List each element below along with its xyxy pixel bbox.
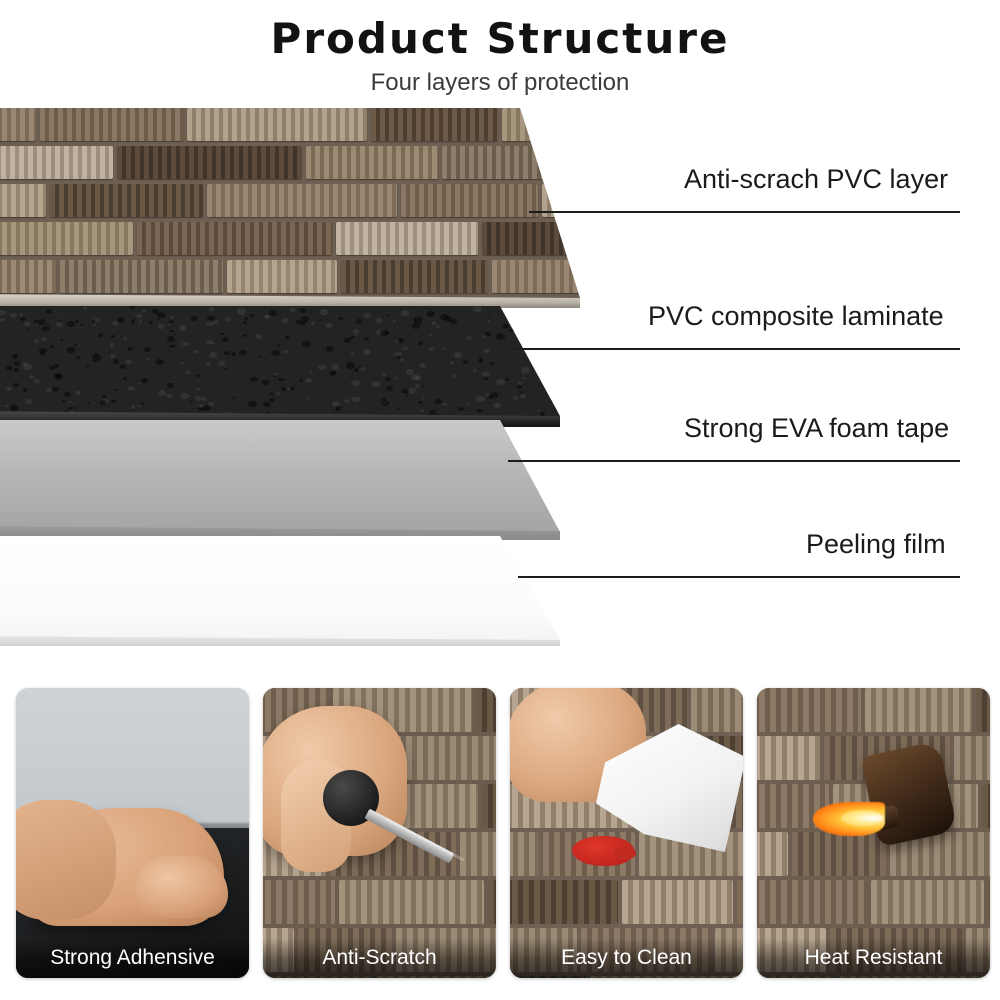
plank (757, 688, 861, 732)
plank (757, 880, 867, 924)
callout-underline-2 (646, 348, 960, 350)
texture-speck (364, 337, 369, 341)
wood-tile (442, 146, 580, 179)
texture-speck (157, 318, 160, 320)
wood-tile (371, 108, 498, 141)
header: Product Structure Four layers of protect… (0, 0, 1000, 108)
texture-speck (158, 324, 164, 328)
texture-speck (551, 359, 554, 361)
texture-speck (351, 380, 360, 386)
texture-speck (231, 352, 236, 355)
texture-speck (155, 359, 164, 365)
texture-speck (332, 371, 336, 374)
texture-speck (522, 377, 525, 379)
texture-speck (524, 326, 528, 329)
texture-speck (250, 377, 258, 383)
texture-speck (219, 361, 225, 365)
texture-speck (10, 313, 17, 318)
texture-speck (14, 368, 19, 371)
texture-speck (490, 392, 498, 398)
texture-speck (93, 324, 95, 326)
callout-label-2: PVC composite laminate (648, 301, 944, 332)
texture-speck (352, 397, 360, 403)
plank (954, 736, 990, 780)
ketchup-drip (614, 846, 636, 860)
texture-speck (170, 330, 174, 332)
layer-diagram: Anti-scrach PVC layer PVC composite lami… (0, 108, 1000, 680)
wood-tile (207, 184, 397, 217)
plank (757, 736, 820, 780)
texture-speck (290, 308, 295, 312)
feature-caption-anti-scratch: Anti-Scratch (263, 938, 496, 978)
texture-speck (131, 405, 136, 408)
texture-speck (385, 332, 388, 334)
callout-label-1: Anti-scrach PVC layer (684, 164, 948, 195)
texture-speck (517, 385, 522, 389)
texture-speck (67, 347, 75, 352)
texture-speck (484, 332, 491, 337)
texture-speck (157, 312, 166, 318)
callout-underline-3 (683, 460, 960, 462)
texture-speck (353, 329, 359, 334)
texture-speck (110, 343, 115, 346)
leader-line-4 (518, 576, 805, 578)
texture-speck (113, 359, 119, 363)
texture-speck (363, 349, 371, 355)
texture-speck (209, 307, 214, 311)
wood-tile (0, 260, 56, 293)
texture-speck (283, 350, 288, 353)
texture-speck (302, 341, 310, 347)
texture-speck (550, 338, 559, 344)
texture-speck (436, 325, 440, 328)
texture-speck (467, 403, 470, 405)
texture-speck (181, 362, 183, 364)
texture-speck (513, 396, 518, 399)
texture-speck (206, 320, 214, 326)
texture-speck (49, 366, 55, 370)
texture-speck (454, 352, 462, 358)
texture-speck (102, 395, 106, 398)
texture-speck (344, 399, 349, 403)
texture-speck (74, 344, 77, 346)
texture-speck (127, 386, 135, 391)
texture-speck (149, 391, 151, 392)
feature-caption-easy-to-clean: Easy to Clean (510, 938, 743, 978)
texture-speck (459, 343, 461, 345)
texture-speck (46, 309, 52, 313)
texture-speck (262, 380, 269, 385)
texture-speck (283, 379, 285, 381)
texture-speck (352, 336, 355, 338)
wood-tile (0, 222, 133, 255)
wood-tile (0, 108, 36, 141)
plank (510, 832, 539, 876)
texture-speck (535, 351, 540, 354)
texture-speck (10, 405, 19, 411)
texture-speck (408, 388, 416, 393)
page-title: Product Structure (0, 0, 1000, 63)
texture-speck (134, 319, 142, 325)
texture-speck (282, 318, 289, 323)
texture-speck (555, 405, 560, 409)
texture-speck (180, 393, 189, 399)
texture-speck (120, 365, 126, 369)
texture-speck (463, 360, 468, 364)
texture-speck (169, 320, 174, 323)
texture-speck (211, 342, 215, 345)
texture-speck (372, 381, 380, 386)
texture-speck (309, 370, 312, 372)
texture-speck (393, 320, 395, 322)
texture-speck (87, 402, 90, 404)
layer-peeling-film (0, 536, 560, 648)
texture-speck (232, 397, 235, 399)
texture-speck (521, 367, 530, 373)
texture-speck (290, 387, 295, 390)
layer-eva-foam (0, 420, 560, 538)
page-subtitle: Four layers of protection (0, 63, 1000, 97)
texture-speck (320, 309, 328, 314)
texture-speck (554, 382, 560, 386)
plank (476, 688, 496, 732)
texture-speck (170, 316, 174, 319)
plank (622, 880, 733, 924)
plank (988, 880, 990, 924)
texture-speck (64, 392, 71, 397)
feature-image-easy-to-clean (510, 688, 743, 978)
plank (871, 880, 984, 924)
texture-speck (271, 350, 280, 356)
texture-speck (300, 308, 306, 312)
texture-speck (196, 388, 200, 390)
callout-label-4: Peeling film (806, 529, 946, 560)
texture-speck (476, 396, 484, 402)
texture-speck (34, 339, 39, 342)
texture-speck (351, 352, 355, 355)
texture-speck (532, 354, 540, 360)
texture-speck (523, 317, 530, 322)
plank (263, 880, 335, 924)
texture-speck (0, 318, 5, 322)
feature-strip: Strong Adhensive Anti-Scratch Easy to C (0, 688, 1000, 1000)
texture-speck (12, 354, 18, 358)
texture-speck (19, 313, 23, 316)
texture-speck (505, 378, 509, 381)
texture-speck (524, 321, 530, 325)
texture-speck (117, 317, 124, 322)
texture-speck (319, 319, 322, 321)
texture-speck (255, 334, 262, 339)
texture-speck (243, 334, 247, 337)
texture-speck (195, 396, 202, 401)
callout-underline-4 (805, 576, 960, 578)
wood-tile (227, 260, 337, 293)
wood-tile (117, 146, 302, 179)
plank (482, 784, 496, 828)
texture-speck (401, 310, 409, 315)
wood-tile (60, 260, 223, 293)
plank (865, 688, 972, 732)
plank (460, 832, 496, 876)
feature-card-easy-to-clean[interactable]: Easy to Clean (510, 688, 743, 978)
wood-tile (401, 184, 538, 217)
wood-tile (306, 146, 438, 179)
texture-speck (237, 308, 246, 314)
texture-speck (529, 352, 537, 358)
leader-line-3 (508, 460, 683, 462)
texture-speck (331, 364, 340, 370)
wood-tile (0, 146, 113, 179)
texture-speck (83, 307, 87, 310)
texture-speck (435, 399, 442, 404)
feature-caption-heat-resistant: Heat Resistant (757, 938, 990, 978)
texture-speck (62, 400, 65, 402)
texture-speck (381, 400, 389, 406)
texture-speck (167, 336, 175, 342)
feature-caption-adhesive: Strong Adhensive (16, 938, 249, 978)
texture-speck (305, 378, 312, 383)
texture-speck (420, 409, 424, 412)
feature-card-heat-resistant[interactable]: Heat Resistant (757, 688, 990, 978)
texture-speck (244, 317, 248, 320)
texture-speck (23, 388, 27, 391)
plank (737, 880, 743, 924)
texture-speck (473, 369, 476, 371)
texture-speck (209, 352, 217, 358)
finger-tip (136, 856, 228, 918)
wood-tile (492, 260, 580, 293)
texture-speck (38, 319, 46, 325)
texture-speck (335, 406, 342, 411)
texture-speck (514, 327, 520, 331)
plank (757, 832, 788, 876)
composite-base (0, 306, 560, 426)
feature-card-anti-scratch[interactable]: Anti-Scratch (263, 688, 496, 978)
texture-speck (92, 355, 101, 361)
texture-speck (419, 363, 426, 368)
texture-speck (5, 407, 8, 409)
texture-speck (442, 348, 445, 350)
texture-speck (496, 333, 505, 339)
texture-speck (123, 337, 127, 340)
texture-speck (536, 359, 540, 362)
wood-tile (50, 184, 203, 217)
texture-speck (179, 325, 187, 330)
wood-tile (482, 222, 580, 255)
texture-speck (250, 314, 254, 317)
texture-speck (29, 375, 34, 378)
wood-tile (341, 260, 488, 293)
wood-tile (187, 108, 367, 141)
texture-speck (166, 376, 168, 378)
texture-speck (199, 404, 204, 408)
plank (510, 880, 618, 924)
feature-image-heat-resistant (757, 688, 990, 978)
callout-underline-1 (668, 211, 960, 213)
texture-speck (299, 379, 303, 382)
feature-card-adhesive[interactable]: Strong Adhensive (16, 688, 249, 978)
texture-speck (142, 310, 145, 312)
texture-speck (273, 373, 277, 376)
texture-speck (489, 316, 492, 318)
texture-speck (26, 328, 29, 330)
texture-speck (224, 351, 229, 355)
texture-speck (149, 321, 153, 324)
texture-speck (136, 314, 141, 318)
texture-speck (278, 378, 283, 381)
texture-speck (429, 347, 434, 351)
texture-speck (75, 320, 79, 323)
wrist (16, 800, 116, 920)
plank (488, 880, 496, 924)
texture-speck (25, 399, 32, 404)
texture-speck (70, 408, 75, 412)
texture-speck (528, 343, 535, 348)
plank (691, 688, 743, 732)
texture-speck (311, 322, 315, 325)
texture-speck (418, 401, 423, 404)
wood-tile (502, 108, 580, 141)
texture-speck (307, 398, 309, 399)
leader-line-2 (510, 348, 646, 350)
callout-label-3: Strong EVA foam tape (684, 413, 949, 444)
feature-image-adhesive (16, 688, 249, 978)
texture-speck (375, 318, 383, 323)
texture-speck (146, 358, 149, 360)
texture-speck (22, 362, 27, 366)
texture-speck (191, 316, 197, 320)
texture-speck (385, 377, 391, 381)
texture-speck (42, 326, 50, 331)
texture-speck (58, 320, 61, 322)
texture-speck (547, 381, 549, 382)
texture-speck (512, 326, 517, 330)
texture-speck (346, 362, 355, 368)
texture-speck (438, 375, 441, 377)
texture-speck (427, 311, 435, 316)
texture-speck (431, 321, 437, 325)
wood-tile (336, 222, 478, 255)
plank (976, 688, 990, 732)
texture-speck (220, 333, 223, 335)
wood-tile (40, 108, 183, 141)
texture-speck (538, 334, 541, 336)
layer-pvc-composite (0, 306, 560, 426)
texture-speck (169, 345, 174, 348)
texture-speck (52, 387, 59, 392)
texture-speck (115, 389, 118, 391)
texture-speck (551, 397, 559, 402)
texture-speck (98, 333, 103, 337)
texture-speck (167, 383, 174, 388)
texture-speck (20, 317, 26, 321)
texture-speck (422, 397, 425, 399)
texture-speck (76, 356, 81, 359)
flame-core-icon (841, 810, 883, 826)
feature-image-anti-scratch (263, 688, 496, 978)
texture-speck (406, 395, 409, 397)
product-structure-infographic: Product Structure Four layers of protect… (0, 0, 1000, 1000)
texture-speck (482, 372, 490, 378)
texture-speck (559, 308, 560, 311)
texture-speck (100, 400, 106, 404)
texture-speck (50, 345, 53, 347)
texture-speck (415, 376, 421, 380)
texture-speck (394, 377, 397, 379)
texture-speck (110, 354, 115, 358)
texture-speck (6, 366, 13, 371)
leader-line-1 (529, 211, 669, 213)
wood-tile (137, 222, 332, 255)
texture-speck (526, 317, 532, 321)
texture-speck (529, 335, 533, 338)
texture-speck (443, 403, 447, 406)
texture-speck (338, 317, 342, 320)
plank (792, 832, 886, 876)
texture-speck (164, 323, 166, 324)
texture-speck (518, 328, 525, 333)
texture-speck (519, 310, 526, 315)
texture-speck (269, 398, 275, 402)
texture-speck (286, 387, 290, 390)
texture-speck (318, 365, 326, 371)
layer-anti-scratch-pvc (0, 108, 580, 308)
texture-speck (382, 373, 386, 376)
texture-speck (80, 324, 82, 326)
texture-speck (141, 378, 148, 383)
plank (982, 784, 990, 828)
wood-tile (0, 184, 46, 217)
texture-speck (225, 317, 231, 321)
texture-speck (14, 361, 21, 366)
plank (339, 880, 484, 924)
texture-speck (24, 322, 30, 327)
